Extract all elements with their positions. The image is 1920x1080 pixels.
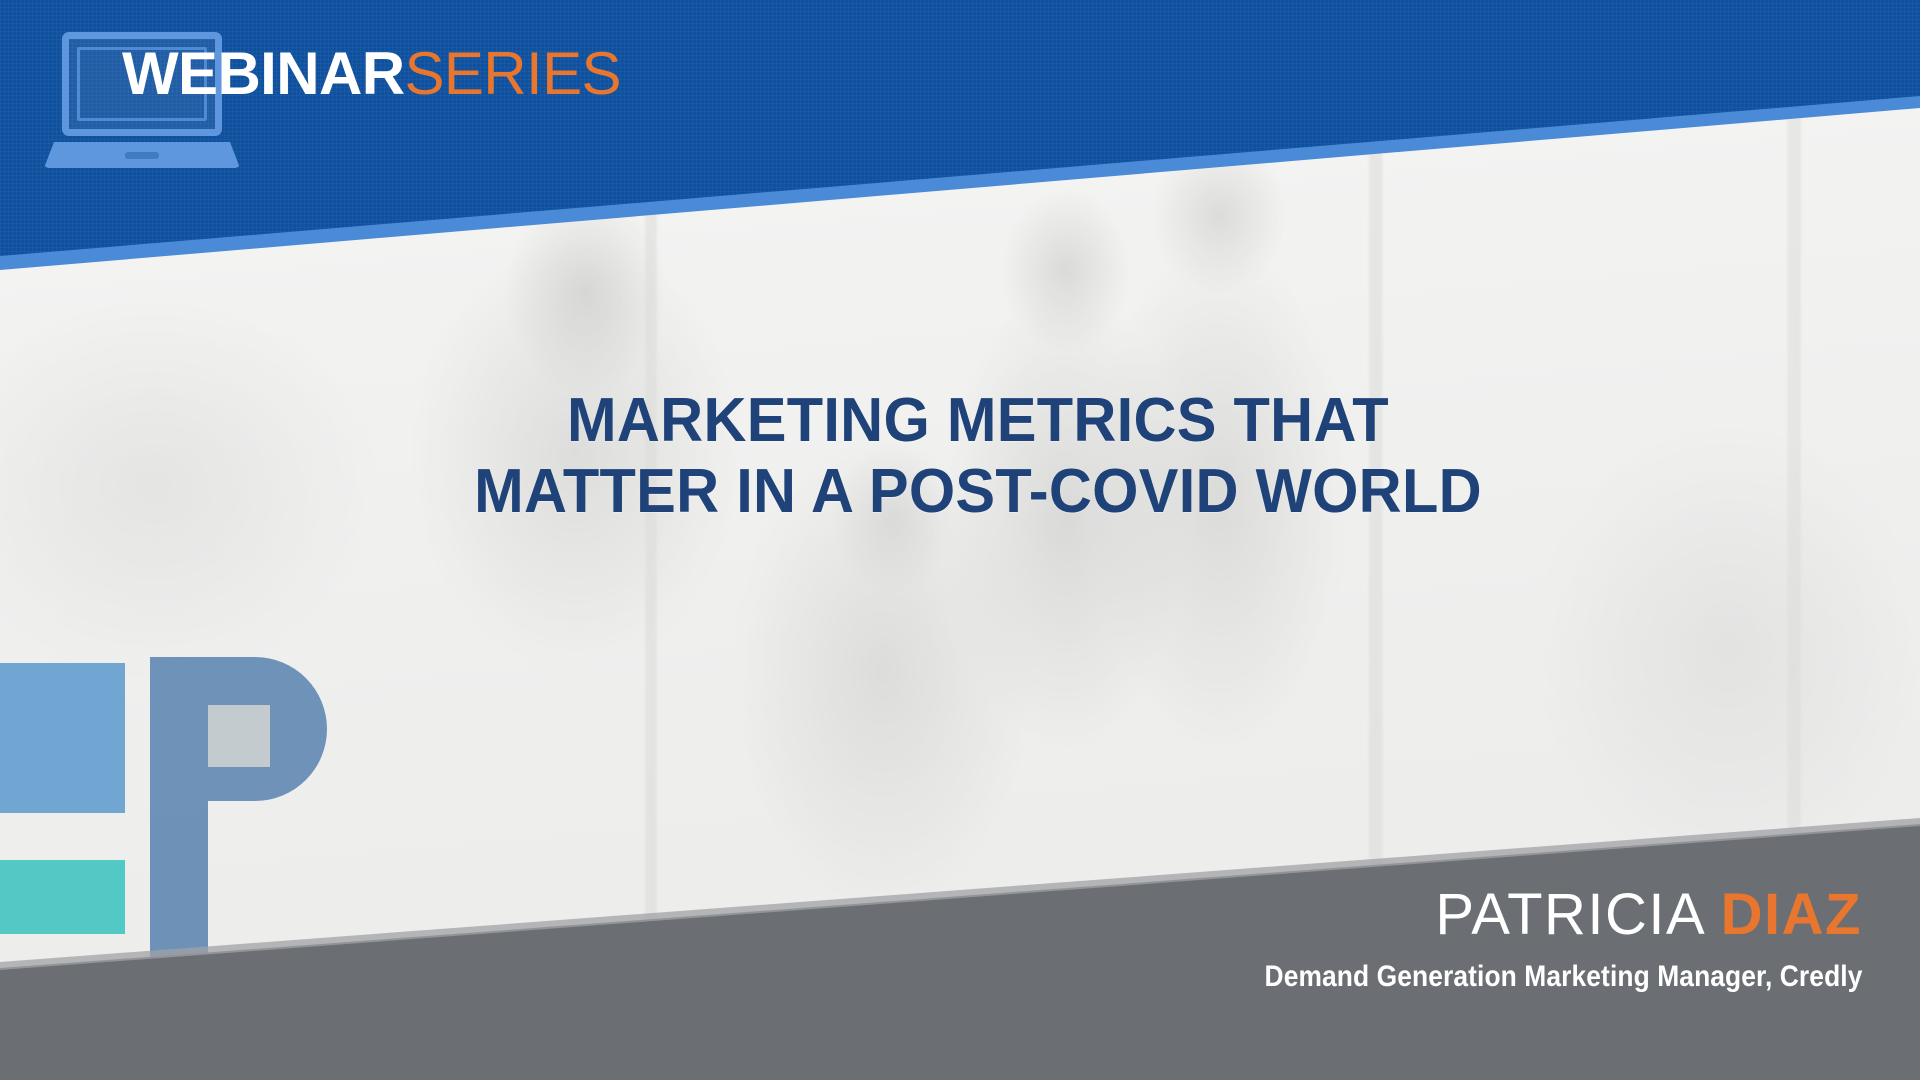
speaker-role: Demand Generation Marketing Manager, Cre… bbox=[1264, 960, 1862, 994]
laptop-trackpad-icon bbox=[125, 152, 159, 159]
speaker-first-name: PATRICIA bbox=[1435, 882, 1703, 947]
title-line-1: MARKETING METRICS THAT bbox=[74, 386, 1883, 457]
title-line-2: MATTER IN A POST-COVID WORLD bbox=[74, 457, 1883, 528]
page-title: MARKETING METRICS THAT MATTER IN A POST-… bbox=[0, 386, 1920, 527]
speaker-credit: PATRICIA DIAZ Demand Generation Marketin… bbox=[1183, 885, 1862, 994]
brand-secondary-text: SERIES bbox=[404, 40, 620, 107]
brand-primary-text: WEBINAR bbox=[122, 40, 404, 107]
webinar-title-slide: WEBINARSERIES MARKETING METRICS THAT MAT… bbox=[0, 0, 1920, 1080]
speaker-name: PATRICIA DIAZ bbox=[1183, 885, 1862, 946]
p-monogram-logo bbox=[0, 645, 330, 975]
speaker-last-name: DIAZ bbox=[1721, 882, 1862, 947]
webinar-series-wordmark: WEBINARSERIES bbox=[122, 44, 621, 104]
